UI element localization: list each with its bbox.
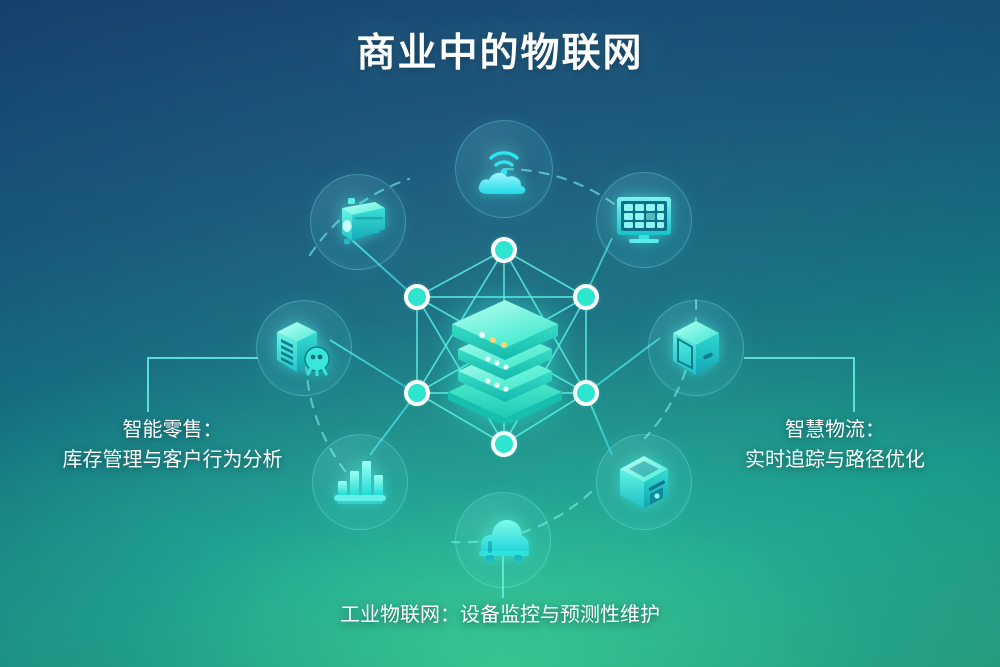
- infographic-canvas: 商业中的物联网: [0, 0, 1000, 667]
- node-dashboard[interactable]: [596, 172, 692, 268]
- server-tower-icon: [670, 319, 722, 377]
- label-bottom-text: 工业物联网：设备监控与预测性维护: [0, 600, 1000, 630]
- label-right-heading: 智慧物流：: [690, 415, 980, 445]
- label-smart-logistics: 智慧物流： 实时追踪与路径优化: [690, 415, 980, 476]
- server-rack-tag-icon: [275, 320, 333, 376]
- monitor-dashboard-icon: [615, 195, 673, 245]
- node-smart-vehicle[interactable]: [455, 492, 551, 588]
- bar-chart-icon: [332, 457, 388, 507]
- package-cube-icon: [617, 454, 671, 510]
- leader-right: [744, 358, 854, 412]
- leader-left: [148, 358, 258, 412]
- label-left-detail: 库存管理与客户行为分析: [30, 445, 315, 475]
- node-server-cabinet[interactable]: [648, 300, 744, 396]
- node-package-cube[interactable]: [596, 434, 692, 530]
- label-left-heading: 智能零售：: [30, 415, 315, 445]
- label-smart-retail: 智能零售： 库存管理与客户行为分析: [30, 415, 315, 476]
- industrial-machine-icon: [328, 196, 388, 248]
- node-cloud-wifi[interactable]: [455, 120, 553, 218]
- stacked-server-database-icon: [430, 288, 580, 423]
- label-industrial-iot: 工业物联网：设备监控与预测性维护: [0, 600, 1000, 630]
- cloud-wifi-icon: [475, 142, 533, 196]
- central-server-node[interactable]: [430, 288, 580, 423]
- node-industrial-unit[interactable]: [310, 174, 406, 270]
- node-bar-analytics[interactable]: [312, 434, 408, 530]
- smart-vehicle-icon: [474, 517, 532, 563]
- node-retail-server[interactable]: [256, 300, 352, 396]
- label-right-detail: 实时追踪与路径优化: [690, 445, 980, 475]
